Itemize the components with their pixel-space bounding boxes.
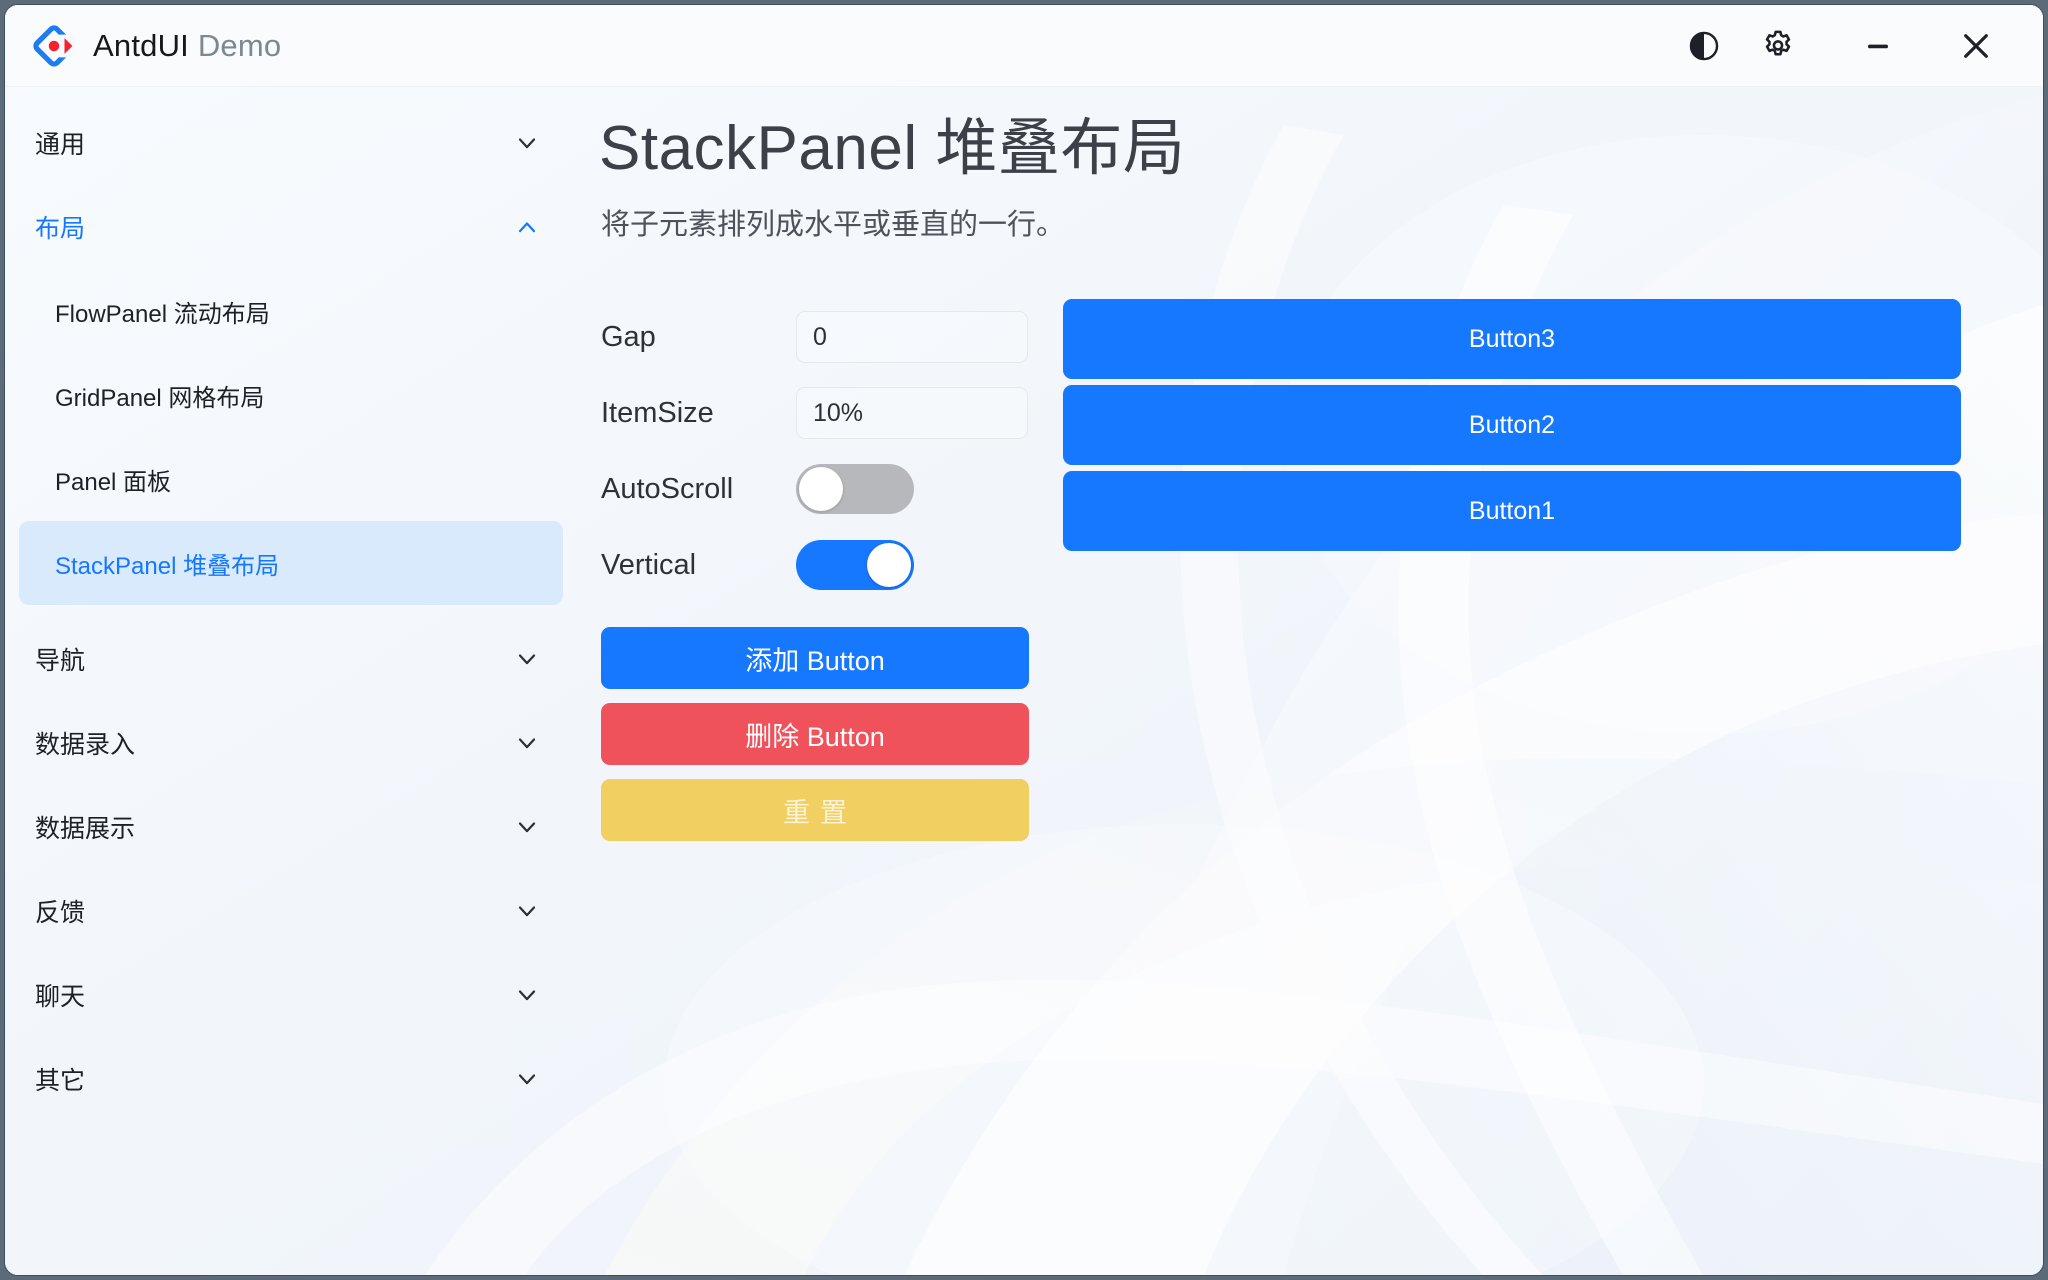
add-button[interactable]: 添加 Button	[601, 627, 1029, 689]
body: 通用 布局 FlowPanel 流动布局 GridPanel 网格布局 Pane…	[5, 87, 2043, 1275]
stack-item[interactable]: Button1	[1063, 471, 1961, 551]
chevron-up-icon	[513, 213, 541, 241]
autoscroll-row: AutoScroll	[601, 451, 1041, 527]
gap-label: Gap	[601, 321, 796, 354]
sidebar-group-label: 数据展示	[35, 809, 135, 845]
main-content: StackPanel 堆叠布局 将子元素排列成水平或垂直的一行。 Gap Ite…	[577, 87, 2043, 1275]
gap-row: Gap	[601, 299, 1041, 375]
contrast-theme-icon[interactable]	[1667, 17, 1741, 75]
itemsize-input[interactable]	[796, 387, 1028, 439]
chevron-down-icon	[513, 129, 541, 157]
vertical-label: Vertical	[601, 549, 796, 582]
toggle-knob	[799, 467, 843, 511]
title-bar: AntdUI Demo	[5, 5, 2043, 87]
app-window: AntdUI Demo	[4, 4, 2044, 1276]
demo-area: Gap ItemSize AutoScroll Vert	[587, 299, 2043, 841]
stack-item[interactable]: Button2	[1063, 385, 1961, 465]
sidebar-item-label: Panel 面板	[55, 462, 171, 497]
sidebar-item-label: FlowPanel 流动布局	[55, 294, 270, 329]
itemsize-row: ItemSize	[601, 375, 1041, 451]
brand-suffix: Demo	[198, 28, 282, 63]
stack-item[interactable]: Button3	[1063, 299, 1961, 379]
window-controls	[1667, 17, 2031, 75]
autoscroll-label: AutoScroll	[601, 473, 796, 506]
sidebar-group-label: 反馈	[35, 893, 85, 929]
sidebar-item-gridpanel[interactable]: GridPanel 网格布局	[19, 353, 563, 437]
chevron-down-icon	[513, 897, 541, 925]
chevron-down-icon	[513, 813, 541, 841]
gap-input[interactable]	[796, 311, 1028, 363]
chevron-down-icon	[513, 981, 541, 1009]
vertical-toggle[interactable]	[796, 540, 914, 590]
gear-icon[interactable]	[1741, 17, 1815, 75]
sidebar-group-label: 聊天	[35, 977, 85, 1013]
reset-button[interactable]: 重置	[601, 779, 1029, 841]
chevron-down-icon	[513, 729, 541, 757]
sidebar-group-label: 数据录入	[35, 725, 135, 761]
sidebar-group-data-display[interactable]: 数据展示	[5, 785, 577, 869]
sidebar-group-label: 通用	[35, 125, 85, 161]
sidebar-item-panel[interactable]: Panel 面板	[19, 437, 563, 521]
page-title: StackPanel 堆叠布局	[599, 97, 2043, 187]
brand: AntdUI Demo	[33, 25, 281, 67]
toggle-knob	[867, 543, 911, 587]
vertical-row: Vertical	[601, 527, 1041, 603]
sidebar-group-label: 布局	[35, 209, 85, 245]
sidebar-group-label: 其它	[35, 1061, 85, 1097]
sidebar-group-data-entry[interactable]: 数据录入	[5, 701, 577, 785]
app-title: AntdUI Demo	[93, 28, 281, 64]
sidebar: 通用 布局 FlowPanel 流动布局 GridPanel 网格布局 Pane…	[5, 87, 577, 1275]
stack-panel-preview: Button3 Button2 Button1	[1063, 299, 1961, 551]
sidebar-group-layout[interactable]: 布局	[5, 185, 577, 269]
page-subtitle: 将子元素排列成水平或垂直的一行。	[601, 201, 2043, 243]
antdui-logo-icon	[33, 25, 75, 67]
sidebar-item-flowpanel[interactable]: FlowPanel 流动布局	[19, 269, 563, 353]
control-panel: Gap ItemSize AutoScroll Vert	[601, 299, 1041, 841]
brand-name: AntdUI	[93, 28, 189, 63]
sidebar-item-label: GridPanel 网格布局	[55, 378, 264, 413]
sidebar-item-label: StackPanel 堆叠布局	[55, 546, 279, 581]
sidebar-group-label: 导航	[35, 641, 85, 677]
itemsize-label: ItemSize	[601, 397, 796, 430]
chevron-down-icon	[513, 645, 541, 673]
delete-button[interactable]: 删除 Button	[601, 703, 1029, 765]
sidebar-group-navigation[interactable]: 导航	[5, 617, 577, 701]
sidebar-item-stackpanel[interactable]: StackPanel 堆叠布局	[19, 521, 563, 605]
close-icon[interactable]	[1939, 17, 2013, 75]
sidebar-group-other[interactable]: 其它	[5, 1037, 577, 1121]
sidebar-group-tongyong[interactable]: 通用	[5, 101, 577, 185]
sidebar-group-feedback[interactable]: 反馈	[5, 869, 577, 953]
minimize-icon[interactable]	[1841, 17, 1915, 75]
chevron-down-icon	[513, 1065, 541, 1093]
sidebar-group-chat[interactable]: 聊天	[5, 953, 577, 1037]
autoscroll-toggle[interactable]	[796, 464, 914, 514]
